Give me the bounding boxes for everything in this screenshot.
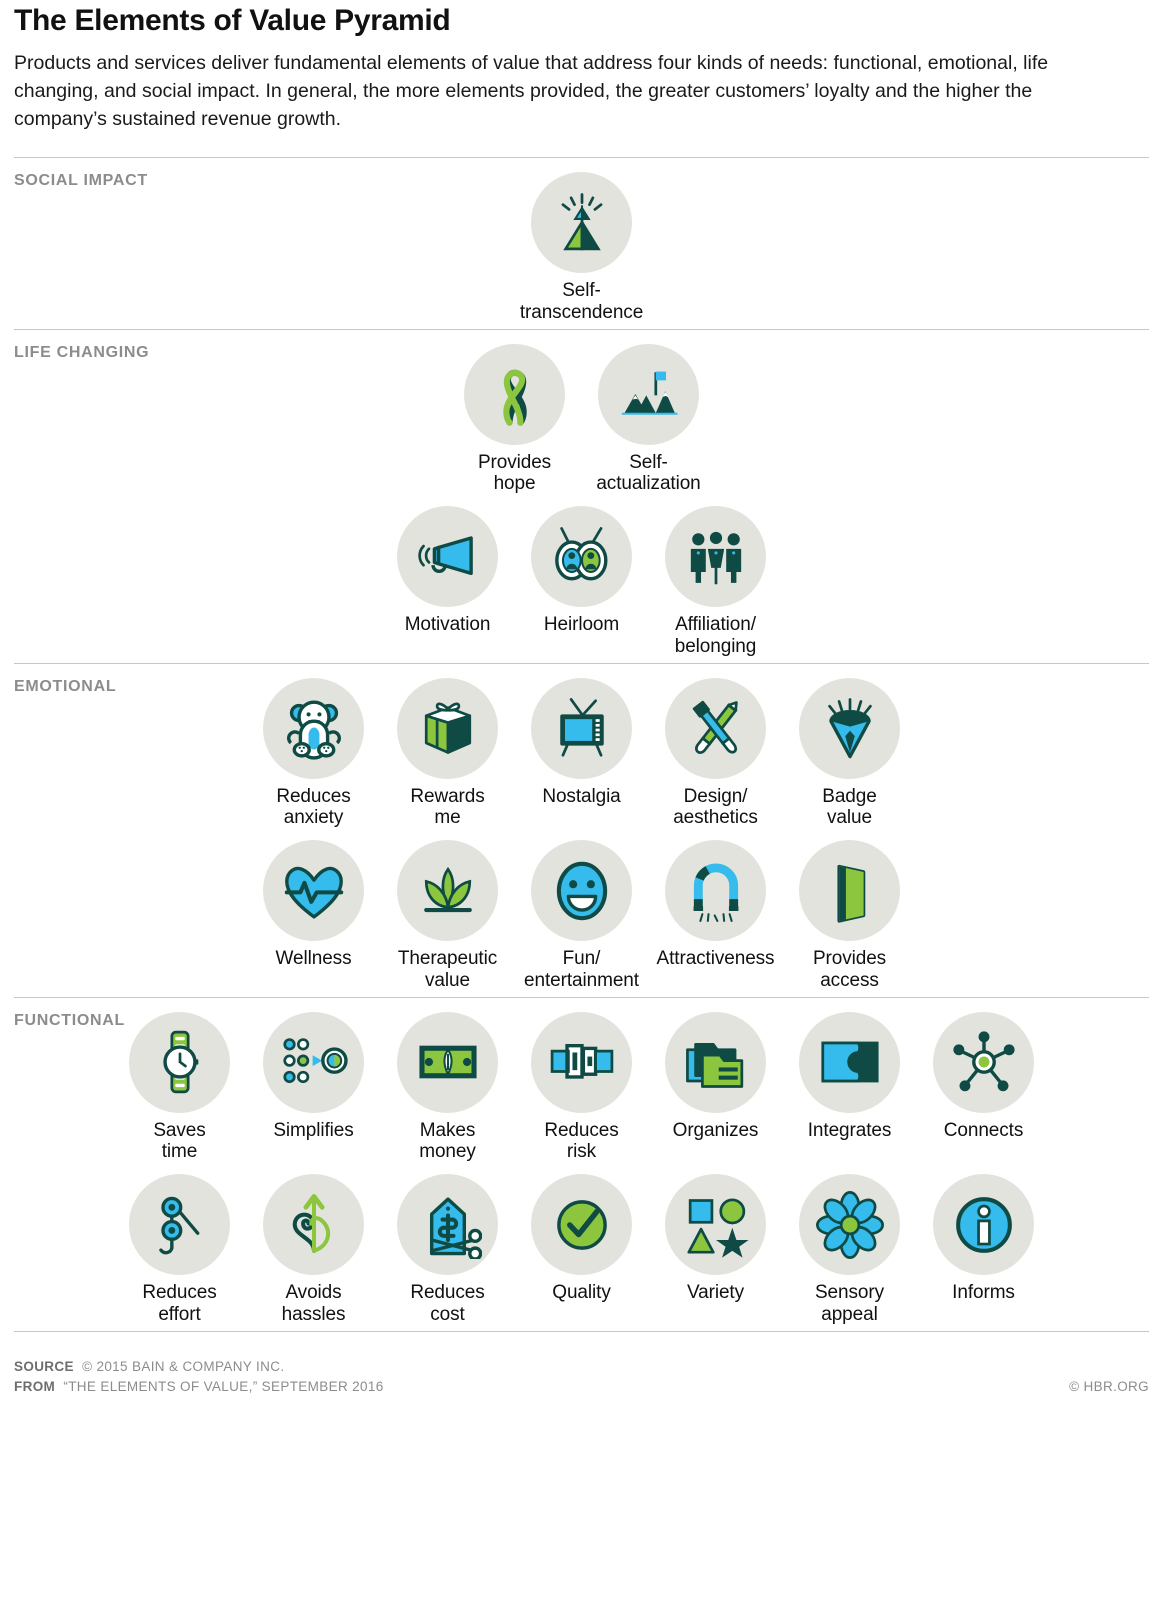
element-label: Reducesrisk xyxy=(544,1120,618,1163)
price-tag-scissors-icon xyxy=(397,1174,498,1275)
element-label: Attractiveness xyxy=(657,948,775,969)
locket-icon xyxy=(531,506,632,607)
icon-row: Savestime Simplifies Makesmoney Reducesr… xyxy=(14,998,1149,1169)
retro-tv-icon xyxy=(531,678,632,779)
element-label: Integrates xyxy=(808,1120,892,1141)
element-label: Sensoryappeal xyxy=(815,1282,884,1325)
three-people-icon xyxy=(665,506,766,607)
element-label: Quality xyxy=(552,1282,610,1303)
element-informs[interactable]: Informs xyxy=(917,1174,1051,1303)
element-label: Variety xyxy=(687,1282,744,1303)
banknote-icon xyxy=(397,1012,498,1113)
from-label: FROM xyxy=(14,1379,55,1394)
element-label: Savestime xyxy=(153,1120,205,1163)
element-variety[interactable]: Variety xyxy=(649,1174,783,1303)
smiley-face-icon xyxy=(531,840,632,941)
element-label: Wellness xyxy=(276,948,352,969)
element-fun-entertainment[interactable]: Fun/entertainment xyxy=(515,840,649,991)
element-label: Rewardsme xyxy=(410,786,484,829)
element-self-transcendence[interactable]: Self-transcendence xyxy=(515,172,649,323)
element-label: Reducesanxiety xyxy=(276,786,350,829)
element-label: Fun/entertainment xyxy=(524,948,639,991)
dots-to-circle-icon xyxy=(263,1012,364,1113)
shapes-icon xyxy=(665,1174,766,1275)
element-reduces-anxiety[interactable]: Reducesanxiety xyxy=(247,678,381,829)
source-text: © 2015 BAIN & COMPANY INC. xyxy=(82,1359,284,1374)
element-label: Organizes xyxy=(673,1120,759,1141)
section-emotional: EMOTIONAL Reducesanxiety Rewardsme Nosta… xyxy=(14,664,1149,997)
footer: SOURCE © 2015 BAIN & COMPANY INC. FROM “… xyxy=(14,1332,1149,1398)
tangled-arrow-icon xyxy=(263,1174,364,1275)
element-saves-time[interactable]: Savestime xyxy=(113,1012,247,1163)
element-provides-hope[interactable]: Provideshope xyxy=(448,344,582,495)
element-label: Motivation xyxy=(405,614,491,635)
element-reduces-cost[interactable]: Reducescost xyxy=(381,1174,515,1325)
pencil-brush-icon xyxy=(665,678,766,779)
flower-icon xyxy=(799,1174,900,1275)
element-label: Reduceseffort xyxy=(142,1282,216,1325)
element-reduces-risk[interactable]: Reducesrisk xyxy=(515,1012,649,1163)
element-label: Makesmoney xyxy=(419,1120,476,1163)
icon-row: Self-transcendence xyxy=(14,158,1149,329)
header: The Elements of Value Pyramid Products a… xyxy=(14,0,1149,133)
gift-box-icon xyxy=(397,678,498,779)
section-label: FUNCTIONAL xyxy=(14,1012,125,1030)
shining-badge-icon xyxy=(799,678,900,779)
section-label: EMOTIONAL xyxy=(14,678,116,696)
element-label: Design/aesthetics xyxy=(673,786,758,829)
element-nostalgia[interactable]: Nostalgia xyxy=(515,678,649,807)
element-organizes[interactable]: Organizes xyxy=(649,1012,783,1141)
element-label: Badgevalue xyxy=(822,786,876,829)
element-label: Self-actualization xyxy=(596,452,700,495)
icon-row: Motivation Heirloom Affiliation/belongin… xyxy=(14,500,1149,663)
element-affiliation-belonging[interactable]: Affiliation/belonging xyxy=(649,506,783,657)
element-quality[interactable]: Quality xyxy=(515,1174,649,1303)
element-avoids-hassles[interactable]: Avoidshassles xyxy=(247,1174,381,1325)
element-label: Providesaccess xyxy=(813,948,886,991)
section-label: LIFE CHANGING xyxy=(14,344,149,362)
wristwatch-icon xyxy=(129,1012,230,1113)
hbr-credit: © HBR.ORG xyxy=(1069,1377,1149,1397)
check-circle-icon xyxy=(531,1174,632,1275)
folders-icon xyxy=(665,1012,766,1113)
element-wellness[interactable]: Wellness xyxy=(247,840,381,969)
element-label: Simplifies xyxy=(273,1120,353,1141)
mountain-flag-icon xyxy=(598,344,699,445)
element-connects[interactable]: Connects xyxy=(917,1012,1051,1141)
element-simplifies[interactable]: Simplifies xyxy=(247,1012,381,1141)
element-label: Nostalgia xyxy=(542,786,620,807)
page-title: The Elements of Value Pyramid xyxy=(14,4,1149,39)
icon-row: Reduceseffort Avoidshassles Reducescost … xyxy=(14,1168,1149,1331)
section-label: SOCIAL IMPACT xyxy=(14,172,148,190)
seatbelt-icon xyxy=(531,1012,632,1113)
section-social-impact: SOCIAL IMPACT Self-transcendence xyxy=(14,158,1149,329)
element-design-aesthetics[interactable]: Design/aesthetics xyxy=(649,678,783,829)
megaphone-icon xyxy=(397,506,498,607)
icon-row: Wellness Therapeuticvalue Fun/entertainm… xyxy=(14,834,1149,997)
element-heirloom[interactable]: Heirloom xyxy=(515,506,649,635)
element-self-actualization[interactable]: Self-actualization xyxy=(582,344,716,495)
element-reduces-effort[interactable]: Reduceseffort xyxy=(113,1174,247,1325)
element-rewards-me[interactable]: Rewardsme xyxy=(381,678,515,829)
element-integrates[interactable]: Integrates xyxy=(783,1012,917,1141)
element-badge-value[interactable]: Badgevalue xyxy=(783,678,917,829)
element-makes-money[interactable]: Makesmoney xyxy=(381,1012,515,1163)
icon-row: Provideshope Self-actualization xyxy=(14,330,1149,501)
heart-pulse-icon xyxy=(263,840,364,941)
open-door-icon xyxy=(799,840,900,941)
element-label: Therapeuticvalue xyxy=(398,948,497,991)
element-motivation[interactable]: Motivation xyxy=(381,506,515,635)
element-attractiveness[interactable]: Attractiveness xyxy=(649,840,783,969)
element-sensory-appeal[interactable]: Sensoryappeal xyxy=(783,1174,917,1325)
element-label: Reducescost xyxy=(410,1282,484,1325)
network-nodes-icon xyxy=(933,1012,1034,1113)
element-label: Connects xyxy=(944,1120,1023,1141)
pyramid-rays-icon xyxy=(531,172,632,273)
infographic-page: The Elements of Value Pyramid Products a… xyxy=(0,0,1163,1600)
section-functional: FUNCTIONAL Savestime Simplifies Makesmon… xyxy=(14,998,1149,1331)
icon-row: Reducesanxiety Rewardsme Nostalgia Desig… xyxy=(14,664,1149,835)
sections-container: SOCIAL IMPACT Self-transcendenceLIFE CHA… xyxy=(14,157,1149,1331)
pulley-hook-icon xyxy=(129,1174,230,1275)
awareness-ribbon-icon xyxy=(464,344,565,445)
element-label: Self-transcendence xyxy=(520,280,643,323)
element-provides-access[interactable]: Providesaccess xyxy=(783,840,917,991)
element-therapeutic-value[interactable]: Therapeuticvalue xyxy=(381,840,515,991)
puzzle-piece-icon xyxy=(799,1012,900,1113)
section-life-changing: LIFE CHANGING Provideshope Self-actualiz… xyxy=(14,330,1149,663)
teddy-bear-icon xyxy=(263,678,364,779)
element-label: Heirloom xyxy=(544,614,619,635)
element-label: Avoidshassles xyxy=(282,1282,346,1325)
source-label: SOURCE xyxy=(14,1359,74,1374)
element-label: Affiliation/belonging xyxy=(675,614,757,657)
leaf-plant-icon xyxy=(397,840,498,941)
magnet-icon xyxy=(665,840,766,941)
from-text: “THE ELEMENTS OF VALUE,” SEPTEMBER 2016 xyxy=(63,1379,383,1394)
element-label: Provideshope xyxy=(478,452,551,495)
info-circle-icon xyxy=(933,1174,1034,1275)
element-label: Informs xyxy=(952,1282,1015,1303)
page-subtitle: Products and services deliver fundamenta… xyxy=(14,49,1059,134)
